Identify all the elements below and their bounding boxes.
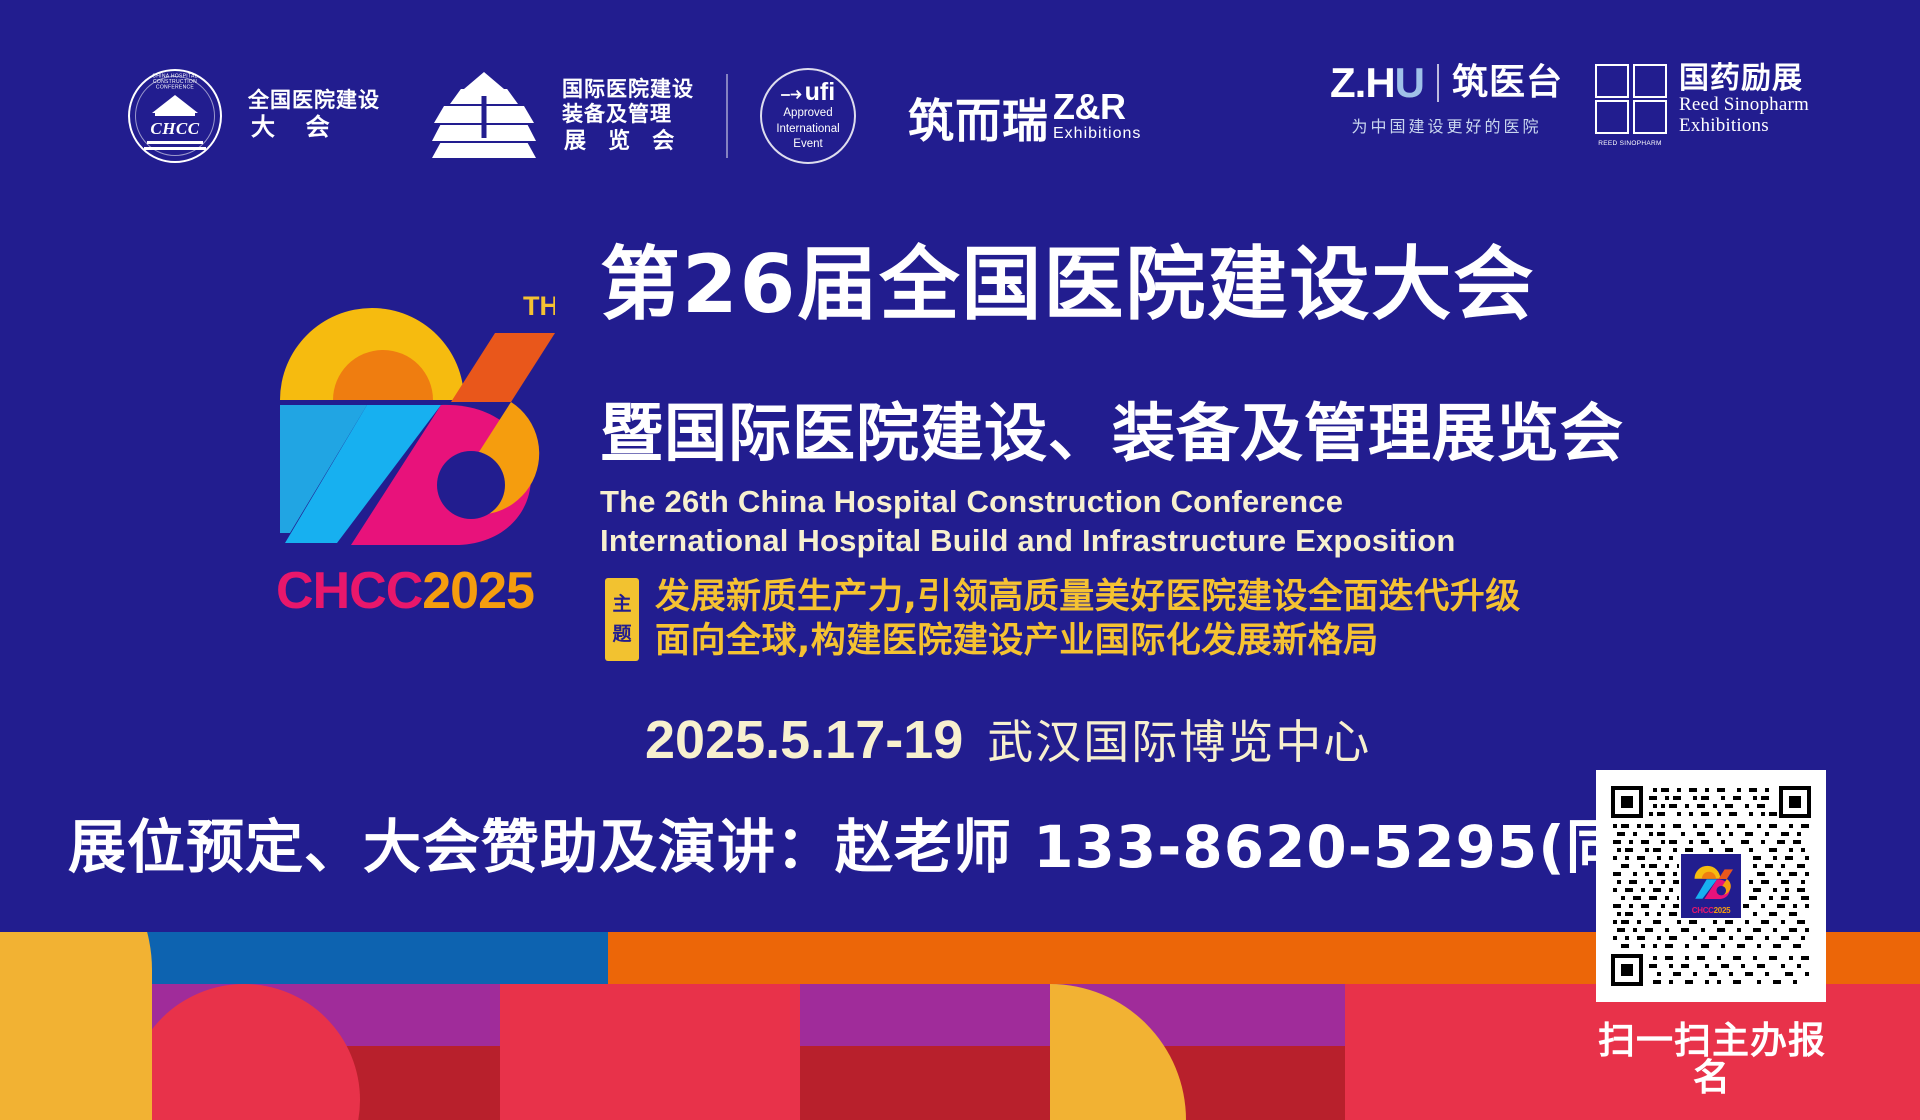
qr-center-logo-text: CHCC2025 xyxy=(1692,907,1731,915)
stack-row-4 xyxy=(432,143,536,158)
reed-text-block: 国药励展 Reed Sinopharm Exhibitions xyxy=(1679,62,1809,137)
reed-english-line2: Exhibitions xyxy=(1679,116,1809,137)
seal-ring-text: CHINA HOSPITAL CONSTRUCTION CONFERENCE xyxy=(134,74,217,91)
english-title-line1: The 26th China Hospital Construction Con… xyxy=(600,482,1456,521)
decor-shape-yellow-left xyxy=(0,932,152,1120)
zr-english-top: Z&R xyxy=(1053,88,1141,126)
ufi-swoosh-icon: ⤍ xyxy=(781,84,802,104)
edition-26-logo-mark: TH xyxy=(255,245,555,545)
ufi-approved-event-icon: ⤍ ufi Approved International Event xyxy=(760,68,856,164)
zr-exhibitions-logo: 筑而瑞 Z&R Exhibitions xyxy=(908,88,1141,145)
logo-six-counter xyxy=(437,451,505,519)
qr-center-logo: CHCC2025 xyxy=(1679,852,1743,920)
decor-shape-red-halfcircle xyxy=(500,984,800,1120)
zhu-divider xyxy=(1437,64,1439,102)
reed-seal-block-2 xyxy=(1633,64,1667,98)
chcc-seal-icon: CHINA HOSPITAL CONSTRUCTION CONFERENCE C… xyxy=(128,69,222,163)
logo-orange-slash xyxy=(451,333,555,402)
stack-tip xyxy=(464,72,504,89)
ufi-sub-line2: International xyxy=(776,123,839,137)
chcc2025-promo-poster: CHINA HOSPITAL CONSTRUCTION CONFERENCE C… xyxy=(0,0,1920,1120)
event-date: 2025.5.17-19 xyxy=(645,713,963,767)
zhu-chinese-name: 筑医台 xyxy=(1452,65,1563,101)
english-title-line2: International Hospital Build and Infrast… xyxy=(600,521,1456,560)
event-venue: 武汉国际博览中心 xyxy=(987,719,1371,765)
qr-caption: 扫一扫主办报名 xyxy=(1596,1022,1828,1096)
zhu-wordmark-u: U xyxy=(1395,59,1424,106)
zr-english-bottom: Exhibitions xyxy=(1053,126,1141,143)
zr-chinese-name: 筑而瑞 xyxy=(908,98,1049,144)
exhibition-name-block: 国际医院建设 装备及管理 展 览 会 xyxy=(562,78,694,153)
qr-canvas: CHCC2025 xyxy=(1605,779,1817,993)
english-title-block: The 26th China Hospital Construction Con… xyxy=(600,482,1456,560)
chcc-2025-wordmark: CHCC2025 xyxy=(250,565,560,617)
theme-line-2: 面向全球,构建医院建设产业国际化发展新格局 xyxy=(655,622,1521,661)
header-left-logos: CHINA HOSPITAL CONSTRUCTION CONFERENCE C… xyxy=(128,68,1141,164)
conference-name-block: 全国医院建设 大 会 xyxy=(248,89,380,142)
zhu-wordmark-zh: Z.H xyxy=(1330,59,1395,106)
ufi-sub-line1: Approved xyxy=(783,107,832,121)
exhibition-stack-icon xyxy=(432,72,536,160)
reed-sinopharm-logo: REED SINOPHARM 国药励展 Reed Sinopharm Exhib… xyxy=(1593,62,1809,137)
date-venue-block: 2025.5.17-19 武汉国际博览中心 xyxy=(645,713,1371,767)
seal-monogram: CHCC xyxy=(130,119,220,139)
registration-qr-code[interactable]: CHCC2025 xyxy=(1596,770,1826,1002)
reed-seal-block-1 xyxy=(1595,64,1629,98)
header-divider xyxy=(726,74,728,158)
zhu-wordmark: Z.HU xyxy=(1330,62,1424,104)
chcc-wordmark-year: 2025 xyxy=(422,562,534,620)
conference-name-line2: 大 会 xyxy=(248,114,380,142)
reed-chinese-name: 国药励展 xyxy=(1679,62,1809,95)
theme-lines: 发展新质生产力,引领高质量美好医院建设全面迭代升级 面向全球,构建医院建设产业国… xyxy=(655,578,1521,661)
poster-header: CHINA HOSPITAL CONSTRUCTION CONFERENCE C… xyxy=(0,0,1920,195)
zr-english-block: Z&R Exhibitions xyxy=(1053,88,1141,145)
reed-seal-block-3 xyxy=(1595,100,1629,134)
theme-badge-char-1: 主 xyxy=(612,590,631,619)
reed-seal-icon: REED SINOPHARM xyxy=(1593,62,1667,136)
logo-th-superscript: TH xyxy=(523,291,555,321)
exhibition-name-line1: 国际医院建设 xyxy=(562,78,694,103)
theme-line-1: 发展新质生产力,引领高质量美好医院建设全面迭代升级 xyxy=(655,578,1521,617)
seal-bar-3 xyxy=(144,147,206,150)
qr-logo-chcc: CHCC xyxy=(1692,906,1714,915)
reed-seal-caption: REED SINOPHARM xyxy=(1593,140,1667,147)
reed-seal-block-4 xyxy=(1633,100,1667,134)
zhu-tagline: 为中国建设更好的医院 xyxy=(1352,113,1542,137)
zhuyitai-logo: Z.HU 筑医台 为中国建设更好的医院 xyxy=(1330,62,1563,137)
header-right-logos: Z.HU 筑医台 为中国建设更好的医院 REED SINOPHARM 国药励展 xyxy=(1330,62,1809,137)
exhibition-name-line2: 装备及管理 xyxy=(562,103,694,128)
theme-block: 主 题 发展新质生产力,引领高质量美好医院建设全面迭代升级 面向全球,构建医院建… xyxy=(605,578,1521,661)
contact-line: 展位预定、大会赞助及演讲：赵老师 133-8620-5295(同V) xyxy=(68,818,1698,876)
chcc-wordmark-text: CHCC xyxy=(276,562,422,620)
ufi-wordmark: ufi xyxy=(805,80,836,105)
theme-badge-char-2: 题 xyxy=(612,620,631,649)
ufi-wordmark-row: ⤍ ufi xyxy=(781,80,835,105)
ufi-sub-line3: Event xyxy=(793,138,822,152)
theme-badge: 主 题 xyxy=(605,578,639,661)
seal-roof-shape xyxy=(152,95,198,113)
page-title: 第26届全国医院建设大会 xyxy=(600,245,1535,325)
qr-center-logo-mark xyxy=(1685,857,1739,899)
seal-bar-1 xyxy=(155,113,195,116)
reed-english-line1: Reed Sinopharm xyxy=(1679,95,1809,116)
stack-stem xyxy=(482,96,487,138)
page-subtitle: 暨国际医院建设、装备及管理展览会 xyxy=(600,402,1624,465)
conference-name-line1: 全国医院建设 xyxy=(248,89,380,114)
exhibition-name-line3: 展 览 会 xyxy=(562,128,694,154)
qr-logo-year: 2025 xyxy=(1714,906,1731,915)
zhuyitai-logo-row: Z.HU 筑医台 xyxy=(1330,62,1563,104)
edition-26-svg: TH xyxy=(255,245,555,545)
seal-bar-2 xyxy=(147,141,203,144)
